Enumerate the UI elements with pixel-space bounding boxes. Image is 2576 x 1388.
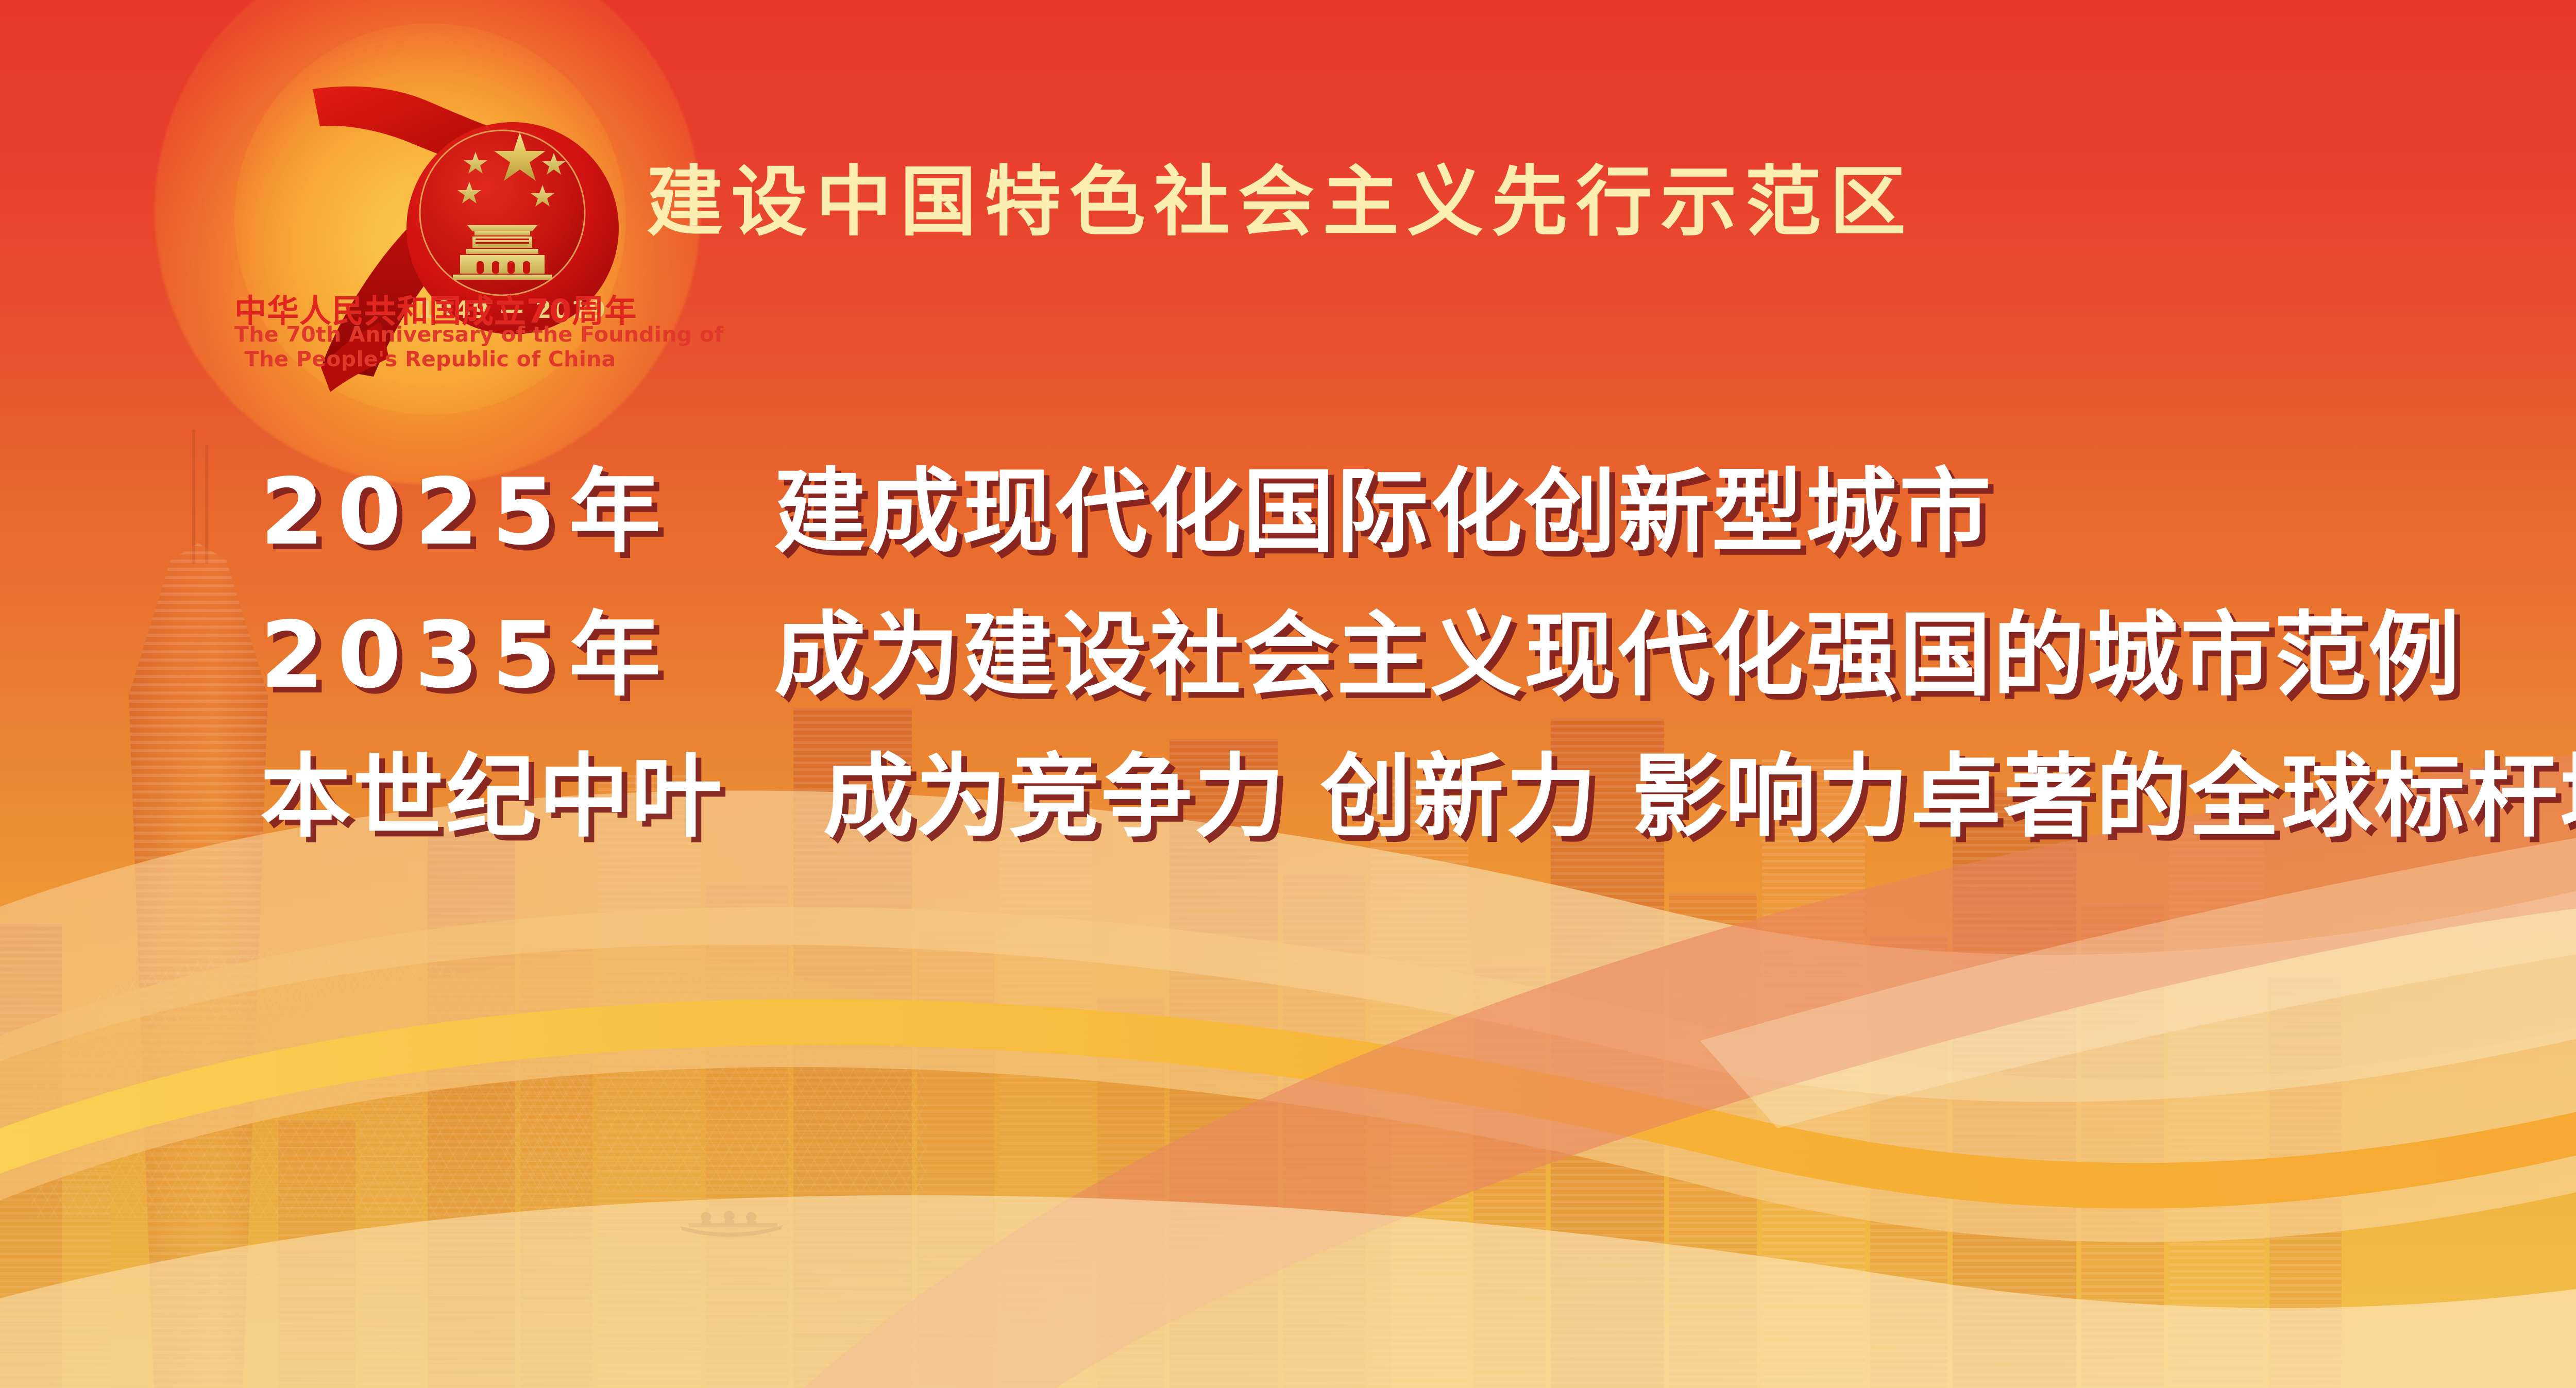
goal-list: 2025年 建成现代化国际化创新型城市 2035年 成为建设社会主义现代化强国的… — [260, 441, 2576, 868]
goal-line-1: 2025年 建成现代化国际化创新型城市 — [260, 441, 2576, 584]
goal-line-2: 2035年 成为建设社会主义现代化强国的城市范例 — [260, 584, 2576, 727]
page-title: 建设中国特色社会主义先行示范区 — [647, 164, 1914, 240]
goal-line-3: 本世纪中叶 成为竞争力 创新力 影响力卓著的全球标杆城市 — [260, 726, 2576, 868]
emblem-title-en-line1: The 70th Anniversary of the Founding of — [234, 322, 626, 347]
anniversary-emblem: 1949 — 2019 中华人民共和国成立70周年 The 70th Anniv… — [234, 23, 626, 415]
goal-text-2: 成为建设社会主义现代化强国的城市范例 — [774, 602, 2462, 708]
emblem-title-en-line2: The People's Republic of China — [234, 347, 626, 371]
goal-text-3: 成为竞争力 创新力 影响力卓著的全球标杆城市 — [823, 744, 2576, 850]
goal-text-1: 建成现代化国际化创新型城市 — [774, 459, 1993, 565]
propaganda-poster: 1949 — 2019 中华人民共和国成立70周年 The 70th Anniv… — [0, 0, 2576, 1388]
goal-year-3: 本世纪中叶 — [260, 744, 724, 850]
goal-year-2: 2035年 — [260, 602, 674, 708]
goal-year-1: 2025年 — [260, 459, 674, 565]
